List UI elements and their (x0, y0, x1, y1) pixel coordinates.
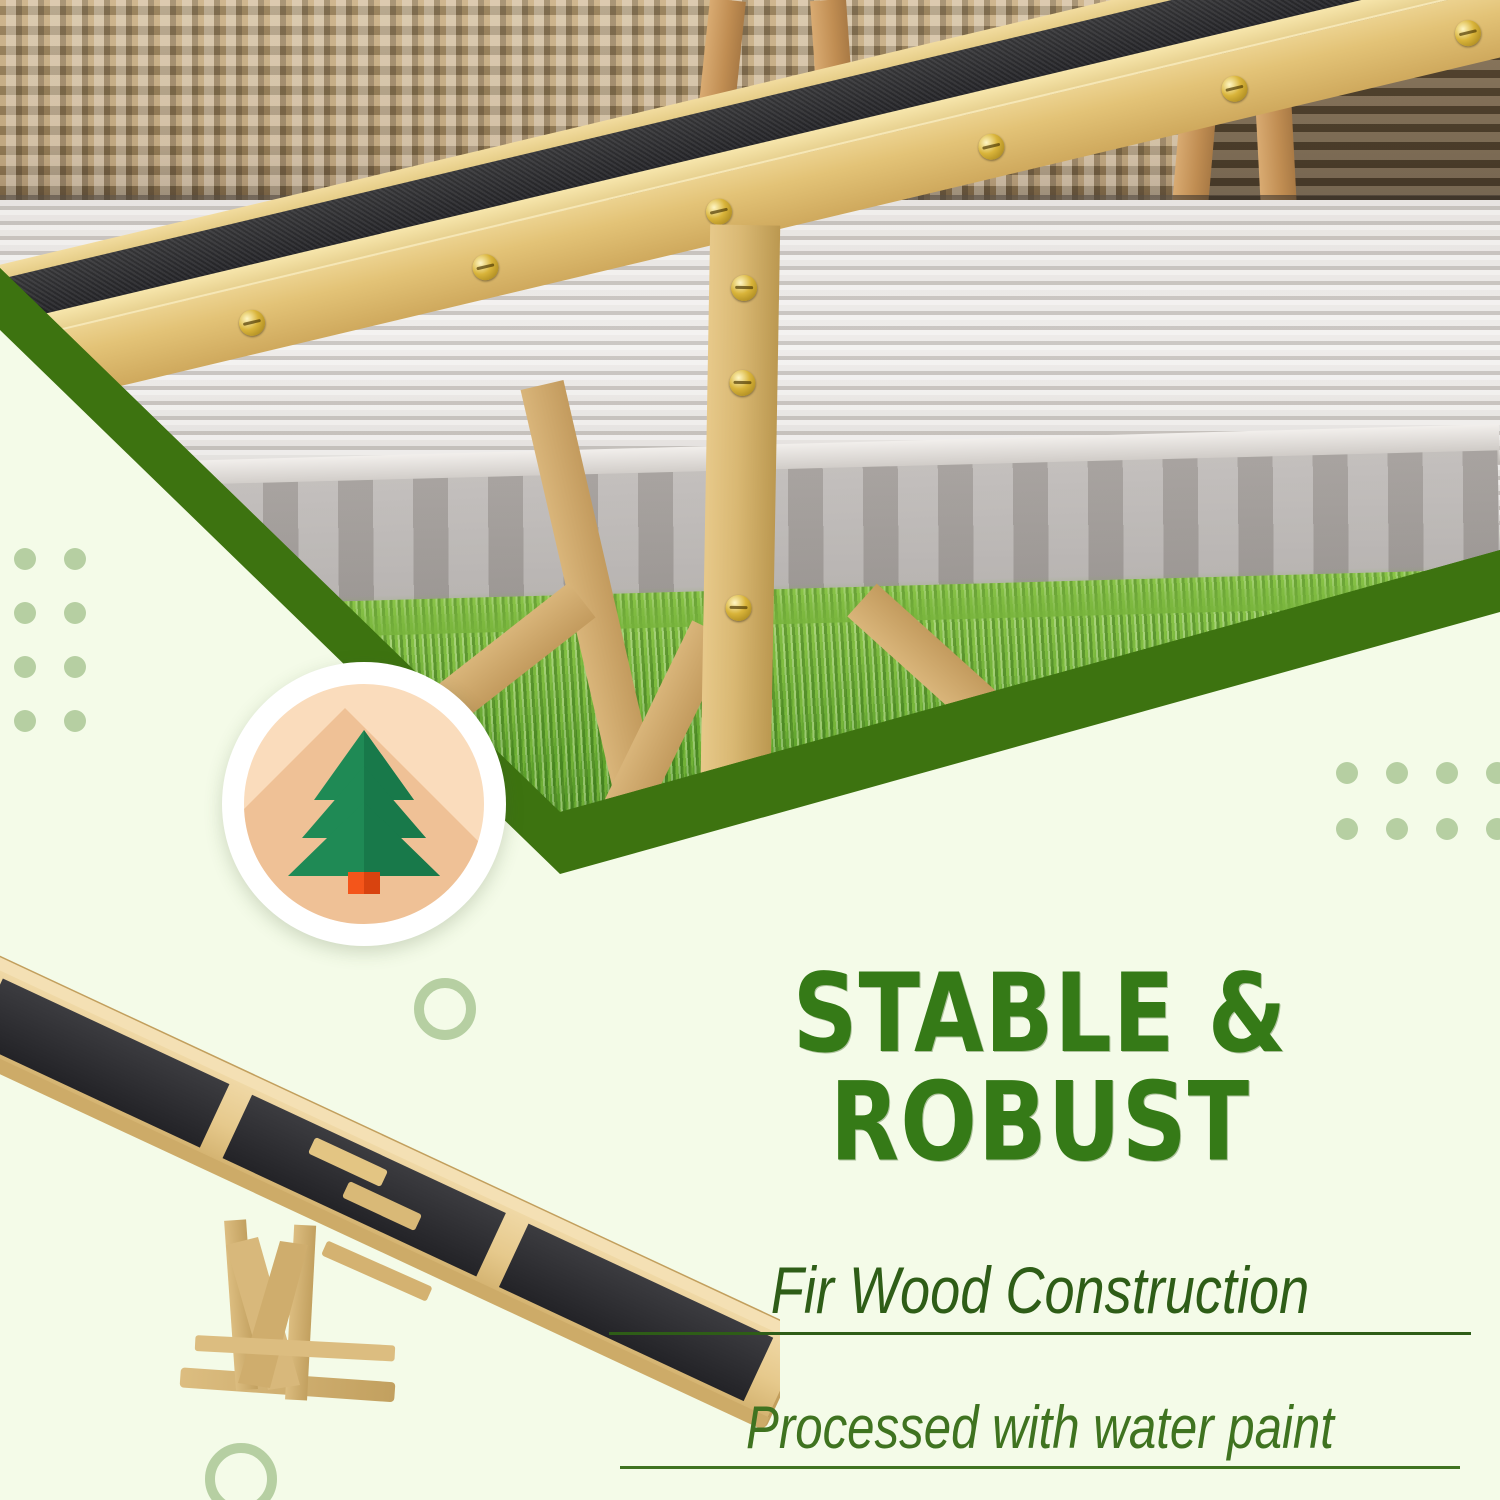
decor-dot (1436, 818, 1458, 840)
decor-dot (14, 548, 36, 570)
decor-dot (1386, 818, 1408, 840)
decor-dot (1336, 762, 1358, 784)
decor-dot (14, 656, 36, 678)
feature-line-1: Fir Wood Construction (679, 1252, 1401, 1328)
fir-tree-badge (222, 662, 506, 946)
decor-dot (1386, 762, 1408, 784)
fir-tree-icon (274, 714, 454, 894)
badge-inner-circle (244, 684, 484, 924)
page-title: STABLE & ROBUST (609, 960, 1471, 1177)
decor-dot (1486, 818, 1500, 840)
decor-dot (64, 656, 86, 678)
feature-underline-1 (609, 1332, 1471, 1335)
decor-dot (64, 548, 86, 570)
copy-block: STABLE & ROBUST Fir Wood Construction Pr… (600, 960, 1480, 1469)
dot-grid-left (14, 548, 114, 764)
ramp-support-post (700, 224, 780, 825)
decor-dot (1436, 762, 1458, 784)
decor-dot (64, 710, 86, 732)
banner-canvas: STABLE & ROBUST Fir Wood Construction Pr… (0, 0, 1500, 1500)
dot-grid-right (1336, 762, 1500, 874)
decor-dot (1336, 818, 1358, 840)
feature-line-2: Processed with water paint (679, 1393, 1401, 1462)
decor-dot (14, 602, 36, 624)
decor-dot (1486, 762, 1500, 784)
feature-underline-2 (620, 1466, 1460, 1469)
decor-dot (64, 602, 86, 624)
decor-dot (14, 710, 36, 732)
